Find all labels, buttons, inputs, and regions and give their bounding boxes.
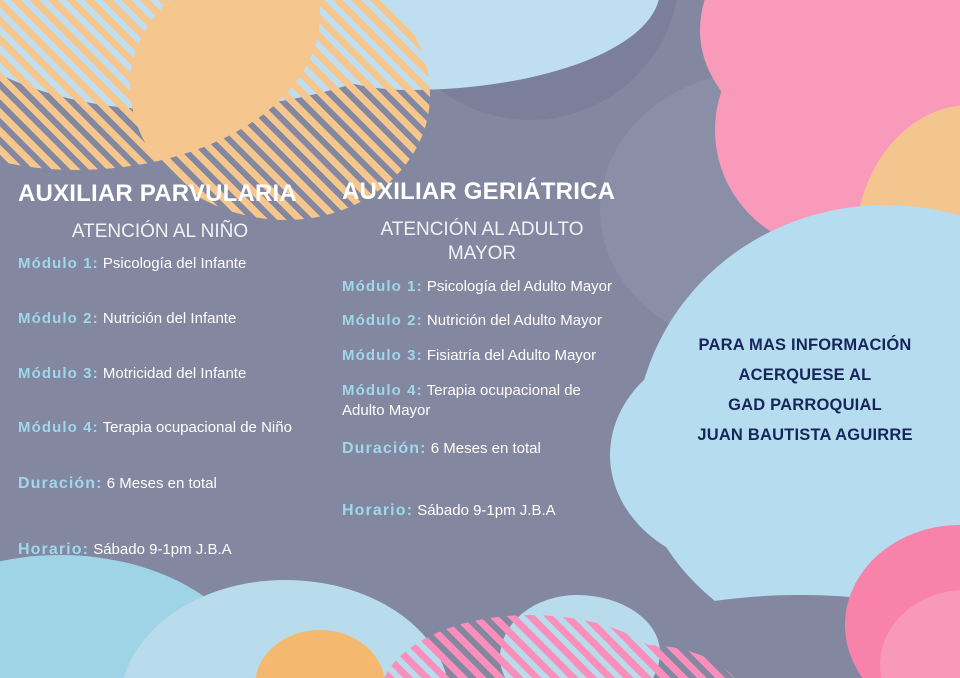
duration-label: Duración: xyxy=(342,440,427,457)
flyer-poster: AUXILIAR PARVULARIA ATENCIÓN AL NIÑO Mód… xyxy=(0,0,960,678)
module-text: Terapia ocupacional de Niño xyxy=(103,419,292,436)
course-duration-geriatrica: Duración: 6 Meses en total xyxy=(342,438,622,460)
module-text: Nutrición del Infante xyxy=(103,310,236,327)
info-line: JUAN BAUTISTA AGUIRRE xyxy=(660,420,950,450)
duration-value: 6 Meses en total xyxy=(107,475,217,492)
module-label: Módulo 4: xyxy=(18,419,99,436)
module-text: Psicología del Infante xyxy=(103,255,246,272)
module-item: Módulo 2: Nutrición del Adulto Mayor xyxy=(342,311,622,332)
course-subtitle-geriatrica: ATENCIÓN AL ADULTO MAYOR xyxy=(342,218,622,267)
module-label: Módulo 2: xyxy=(18,310,99,327)
schedule-label: Horario: xyxy=(18,541,89,558)
module-item: Módulo 1: Psicología del Adulto Mayor xyxy=(342,277,622,298)
duration-label: Duración: xyxy=(18,475,103,492)
course-column-geriatrica: AUXILIAR GERIÁTRICA ATENCIÓN AL ADULTO M… xyxy=(342,178,622,523)
course-column-parvularia: AUXILIAR PARVULARIA ATENCIÓN AL NIÑO Mód… xyxy=(18,180,338,562)
info-line: ACERQUESE AL xyxy=(660,360,950,390)
module-item: Módulo 3: Motricidad del Infante xyxy=(18,364,338,385)
module-label: Módulo 3: xyxy=(18,365,99,382)
module-label: Módulo 4: xyxy=(342,382,423,399)
poster-content: AUXILIAR PARVULARIA ATENCIÓN AL NIÑO Mód… xyxy=(0,0,960,678)
course-subtitle-parvularia: ATENCIÓN AL NIÑO xyxy=(18,220,338,244)
course-schedule-parvularia: Horario: Sábado 9-1pm J.B.A xyxy=(18,539,338,561)
module-label: Módulo 1: xyxy=(18,255,99,272)
module-text: Fisiatría del Adulto Mayor xyxy=(427,347,596,364)
module-list-parvularia: Módulo 1: Psicología del Infante Módulo … xyxy=(18,254,338,439)
course-title-geriatrica: AUXILIAR GERIÁTRICA xyxy=(342,178,622,206)
course-duration-parvularia: Duración: 6 Meses en total xyxy=(18,473,338,495)
schedule-value: Sábado 9-1pm J.B.A xyxy=(93,541,231,558)
module-label: Módulo 2: xyxy=(342,312,423,329)
module-label: Módulo 1: xyxy=(342,278,423,295)
module-text: Nutrición del Adulto Mayor xyxy=(427,312,602,329)
module-item: Módulo 4: Terapia ocupacional de Adulto … xyxy=(342,381,622,422)
module-item: Módulo 1: Psicología del Infante xyxy=(18,254,338,275)
schedule-label: Horario: xyxy=(342,502,413,519)
module-item: Módulo 3: Fisiatría del Adulto Mayor xyxy=(342,346,622,367)
course-schedule-geriatrica: Horario: Sábado 9-1pm J.B.A xyxy=(342,500,622,522)
module-text: Psicología del Adulto Mayor xyxy=(427,278,612,295)
module-text: Motricidad del Infante xyxy=(103,365,246,382)
info-line: PARA MAS INFORMACIÓN xyxy=(660,330,950,360)
info-line: GAD PARROQUIAL xyxy=(660,390,950,420)
duration-value: 6 Meses en total xyxy=(431,440,541,457)
course-title-parvularia: AUXILIAR PARVULARIA xyxy=(18,180,338,208)
module-item: Módulo 4: Terapia ocupacional de Niño xyxy=(18,418,338,439)
module-item: Módulo 2: Nutrición del Infante xyxy=(18,309,338,330)
module-list-geriatrica: Módulo 1: Psicología del Adulto Mayor Mó… xyxy=(342,277,622,422)
module-label: Módulo 3: xyxy=(342,347,423,364)
schedule-value: Sábado 9-1pm J.B.A xyxy=(417,502,555,519)
contact-info-block: PARA MAS INFORMACIÓN ACERQUESE AL GAD PA… xyxy=(660,330,950,450)
